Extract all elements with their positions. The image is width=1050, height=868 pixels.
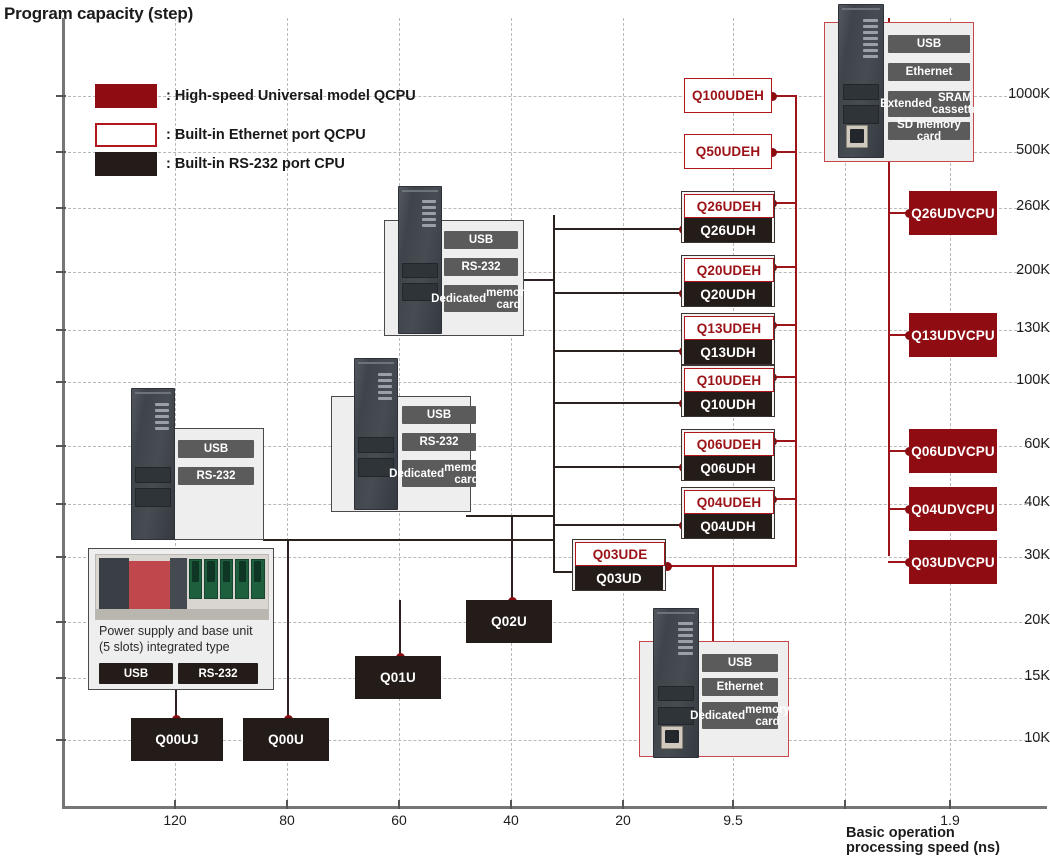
port-tag: RS-232 (444, 258, 518, 276)
model-box-q03ude[interactable]: Q03UDE (575, 542, 665, 566)
cpu-led (678, 628, 693, 631)
gridline-vertical (511, 18, 512, 806)
x-axis-tick (732, 800, 734, 809)
connector-line-vertical (399, 600, 401, 660)
connector-line-vertical (553, 215, 555, 279)
cpu-led (678, 652, 693, 655)
base-unit-slot (235, 559, 249, 599)
cpu-module-image (838, 4, 884, 158)
base-unit-power-supply (99, 558, 128, 613)
connector-line-vertical (511, 516, 513, 604)
model-box-pair: Q04UDEHQ04UDH (681, 487, 775, 539)
model-box-q00u[interactable]: Q00U (243, 718, 329, 761)
model-box-q03udvcpu[interactable]: Q03UDVCPU (909, 540, 997, 584)
cpu-led (678, 646, 693, 649)
cpu-led (378, 373, 392, 376)
connector-line-horizontal (666, 565, 797, 567)
base-unit-front-cover (129, 561, 170, 611)
x-axis-label: 120 (145, 812, 205, 828)
model-box-q01u[interactable]: Q01U (355, 656, 441, 699)
cpu-led (378, 397, 392, 400)
port-tag: USB (702, 654, 778, 672)
model-box-q06udeh[interactable]: Q06UDEH (684, 432, 774, 456)
legend-label: : High-speed Universal model QCPU (166, 88, 416, 104)
base-unit-rail (96, 609, 268, 619)
y-axis-label: 100K (994, 372, 1050, 388)
cpu-led (678, 634, 693, 637)
cpu-led (863, 31, 878, 34)
cpu-led (155, 427, 169, 430)
model-box-q04udeh[interactable]: Q04UDEH (684, 490, 774, 514)
y-axis-label: 130K (994, 320, 1050, 336)
model-box-q10udeh[interactable]: Q10UDEH (684, 368, 774, 392)
y-axis-tick (56, 503, 66, 505)
port-tag: Ethernet (702, 678, 778, 696)
gridline-vertical (623, 18, 624, 806)
port-tag: USB (178, 440, 254, 458)
cpu-led-strip (863, 19, 878, 61)
cpu-led-strip (155, 403, 169, 433)
legend-swatch-red (95, 84, 157, 108)
cpu-led (863, 55, 878, 58)
cpu-port-ethernet (661, 726, 683, 749)
cpu-led (863, 43, 878, 46)
port-tag: ExtendedSRAM cassette (888, 91, 970, 117)
page-title: Program capacity (step) (4, 4, 193, 24)
model-box-q100udeh[interactable]: Q100UDEH (684, 78, 772, 113)
port-tag: USB (888, 35, 970, 53)
legend-label: : Built-in Ethernet port QCPU (166, 127, 366, 143)
connector-line-vertical (888, 165, 890, 556)
model-box-q13udh[interactable]: Q13UDH (684, 340, 772, 364)
cpu-module-image (131, 388, 175, 540)
x-axis-tick (949, 800, 951, 809)
base-unit-caption-line2: (5 slots) integrated type (99, 640, 230, 655)
base-unit-slot (204, 559, 218, 599)
diagram-canvas: Program capacity (step) 1000K500K260K200… (0, 0, 1050, 868)
cpu-led (422, 218, 436, 221)
model-box-q26udvcpu[interactable]: Q26UDVCPU (909, 191, 997, 235)
y-axis-label: 200K (994, 262, 1050, 278)
model-box-q26udeh[interactable]: Q26UDEH (684, 194, 774, 218)
port-tag: USB (99, 663, 173, 684)
model-box-pair: Q06UDEHQ06UDH (681, 429, 775, 481)
cpu-port-usb (658, 686, 695, 701)
y-axis-label: 15K (994, 668, 1050, 684)
cpu-module-header (842, 8, 881, 10)
cpu-module-image (398, 186, 442, 334)
y-axis-tick (56, 207, 66, 209)
connector-line-horizontal (553, 524, 682, 526)
x-axis-label: 9.5 (703, 812, 763, 828)
cpu-led (863, 25, 878, 28)
port-tag: SD memory card (888, 122, 970, 140)
x-axis-tick (844, 800, 846, 809)
connector-line-vertical (795, 96, 797, 566)
connector-line-horizontal (553, 402, 682, 404)
cpu-led (378, 391, 392, 394)
base-unit-cpu (170, 558, 187, 614)
model-box-q26udh[interactable]: Q26UDH (684, 218, 772, 242)
y-axis-label: 10K (994, 730, 1050, 746)
cpu-module-header (402, 190, 439, 192)
y-axis-label: 20K (994, 612, 1050, 628)
x-axis-tick (510, 800, 512, 809)
y-axis-tick (56, 621, 66, 623)
cpu-port-usb (358, 437, 393, 453)
legend-label: : Built-in RS-232 port CPU (166, 156, 345, 172)
y-axis-tick (56, 329, 66, 331)
model-box-q20udh[interactable]: Q20UDH (684, 282, 772, 306)
base-unit-photo (95, 554, 269, 620)
x-axis-tick (622, 800, 624, 809)
port-tag: Dedicatedmemory card (702, 702, 778, 729)
legend-swatch-black (95, 152, 157, 176)
model-box-q50udeh[interactable]: Q50UDEH (684, 134, 772, 169)
cpu-led (155, 415, 169, 418)
port-tag: Dedicatedmemory card (444, 285, 518, 312)
model-box-pair: Q10UDEHQ10UDH (681, 365, 775, 417)
cpu-led (422, 200, 436, 203)
model-box-q13udeh[interactable]: Q13UDEH (684, 316, 774, 340)
cpu-port-ethernet (846, 125, 868, 148)
model-box-q00uj[interactable]: Q00UJ (131, 718, 223, 761)
cpu-led (863, 37, 878, 40)
y-axis-tick (56, 556, 66, 558)
cpu-led-strip (678, 622, 693, 658)
y-axis-label: 30K (994, 547, 1050, 563)
cpu-port-usb (843, 84, 880, 100)
model-box-pair: Q26UDEHQ26UDH (681, 191, 775, 243)
connector-line-horizontal (553, 228, 682, 230)
port-tag: RS-232 (178, 663, 258, 684)
y-axis-tick (56, 445, 66, 447)
cpu-led (863, 19, 878, 22)
cpu-led-strip (378, 373, 392, 403)
port-tag: RS-232 (402, 433, 476, 451)
model-box-pair: Q03UDEQ03UD (572, 539, 666, 591)
connector-line-horizontal (553, 466, 682, 468)
x-axis-tick (398, 800, 400, 809)
port-tag: USB (444, 231, 518, 249)
cpu-port-lower (135, 488, 170, 507)
x-axis-tick (174, 800, 176, 809)
cpu-module-header (358, 362, 395, 364)
y-axis-label: 260K (994, 198, 1050, 214)
x-axis-tick (286, 800, 288, 809)
cpu-led (378, 385, 392, 388)
cpu-led (378, 379, 392, 382)
model-box-q10udh[interactable]: Q10UDH (684, 392, 772, 416)
port-tag: USB (402, 406, 476, 424)
cpu-port-usb (135, 467, 170, 483)
x-axis-title: Basic operation processing speed (ns) (846, 826, 1046, 856)
model-box-q06udh[interactable]: Q06UDH (684, 456, 772, 480)
cpu-led (155, 409, 169, 412)
base-unit-slot (220, 559, 234, 599)
port-tag: RS-232 (178, 467, 254, 485)
x-axis-label: 80 (257, 812, 317, 828)
cpu-led (422, 224, 436, 227)
y-axis-label: 60K (994, 436, 1050, 452)
cpu-led (155, 403, 169, 406)
model-box-q20udeh[interactable]: Q20UDEH (684, 258, 774, 282)
cpu-led-strip (422, 200, 436, 230)
y-axis-tick (56, 739, 66, 741)
cpu-led (678, 640, 693, 643)
cpu-port-lower (658, 707, 695, 725)
port-tag: Ethernet (888, 63, 970, 81)
y-axis-line (62, 18, 65, 808)
model-box-pair: Q13UDEHQ13UDH (681, 313, 775, 365)
base-unit-caption-line1: Power supply and base unit (99, 624, 253, 639)
model-box-pair: Q20UDEHQ20UDH (681, 255, 775, 307)
port-tag: Dedicatedmemory card (402, 460, 476, 487)
y-axis-tick (56, 151, 66, 153)
gridline-horizontal (63, 208, 1047, 209)
connector-line-horizontal (263, 539, 555, 541)
connector-line-horizontal (553, 350, 682, 352)
model-box-q04udvcpu[interactable]: Q04UDVCPU (909, 487, 997, 531)
y-axis-label: 1000K (994, 86, 1050, 102)
x-axis-label: 60 (369, 812, 429, 828)
cpu-module-image (354, 358, 398, 510)
connector-line-horizontal (466, 515, 555, 517)
base-unit-slots (189, 559, 265, 599)
cpu-led (422, 212, 436, 215)
x-axis-label: 20 (593, 812, 653, 828)
x-axis-line (62, 806, 1047, 809)
y-axis-label: 500K (994, 142, 1050, 158)
cpu-port-lower (843, 105, 880, 124)
connector-line-horizontal (553, 292, 682, 294)
model-box-q13udvcpu[interactable]: Q13UDVCPU (909, 313, 997, 357)
base-unit-slot (189, 559, 203, 599)
cpu-module-header (135, 392, 172, 394)
cpu-module-header (657, 612, 696, 614)
x-axis-label: 40 (481, 812, 541, 828)
base-unit-slot (251, 559, 265, 599)
y-axis-tick (56, 271, 66, 273)
model-box-q04udh[interactable]: Q04UDH (684, 514, 772, 538)
x-axis-title-line2: processing speed (ns) (846, 841, 1046, 856)
model-box-q03ud[interactable]: Q03UD (575, 566, 663, 590)
cpu-led (678, 622, 693, 625)
connector-line-horizontal (523, 279, 555, 281)
x-axis-title-line1: Basic operation (846, 826, 1046, 841)
y-axis-tick (56, 677, 66, 679)
cpu-module-image (653, 608, 699, 758)
y-axis-label: 40K (994, 494, 1050, 510)
model-box-q02u[interactable]: Q02U (466, 600, 552, 643)
legend-swatch-hollow (95, 123, 157, 147)
y-axis-tick (56, 381, 66, 383)
cpu-led (155, 421, 169, 424)
cpu-led (863, 49, 878, 52)
y-axis-tick (56, 95, 66, 97)
model-box-q06udvcpu[interactable]: Q06UDVCPU (909, 429, 997, 473)
connector-line-vertical (287, 540, 289, 722)
cpu-port-usb (402, 263, 437, 278)
cpu-led (422, 206, 436, 209)
